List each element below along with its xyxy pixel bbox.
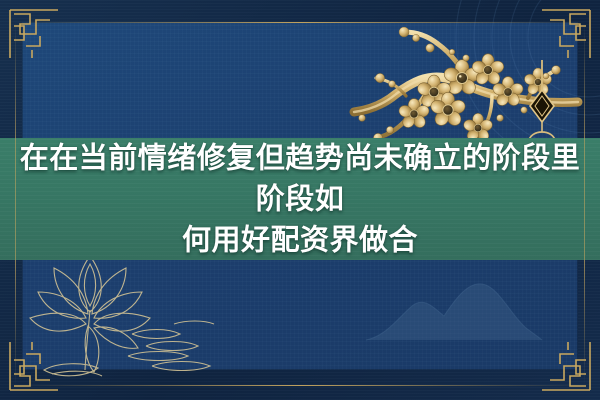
page-title: 在在当前情绪修复但趋势尚未确立的阶段里阶段如 何用好配资界做合	[0, 139, 600, 262]
mountain-silhouette-icon	[364, 274, 544, 344]
fret-corner-ornament-icon-bottom-right	[538, 338, 594, 394]
title-card: 在在当前情绪修复但趋势尚未确立的阶段里阶段如 何用好配资界做合	[0, 0, 600, 400]
fret-corner-ornament-icon-top-left	[6, 6, 62, 62]
